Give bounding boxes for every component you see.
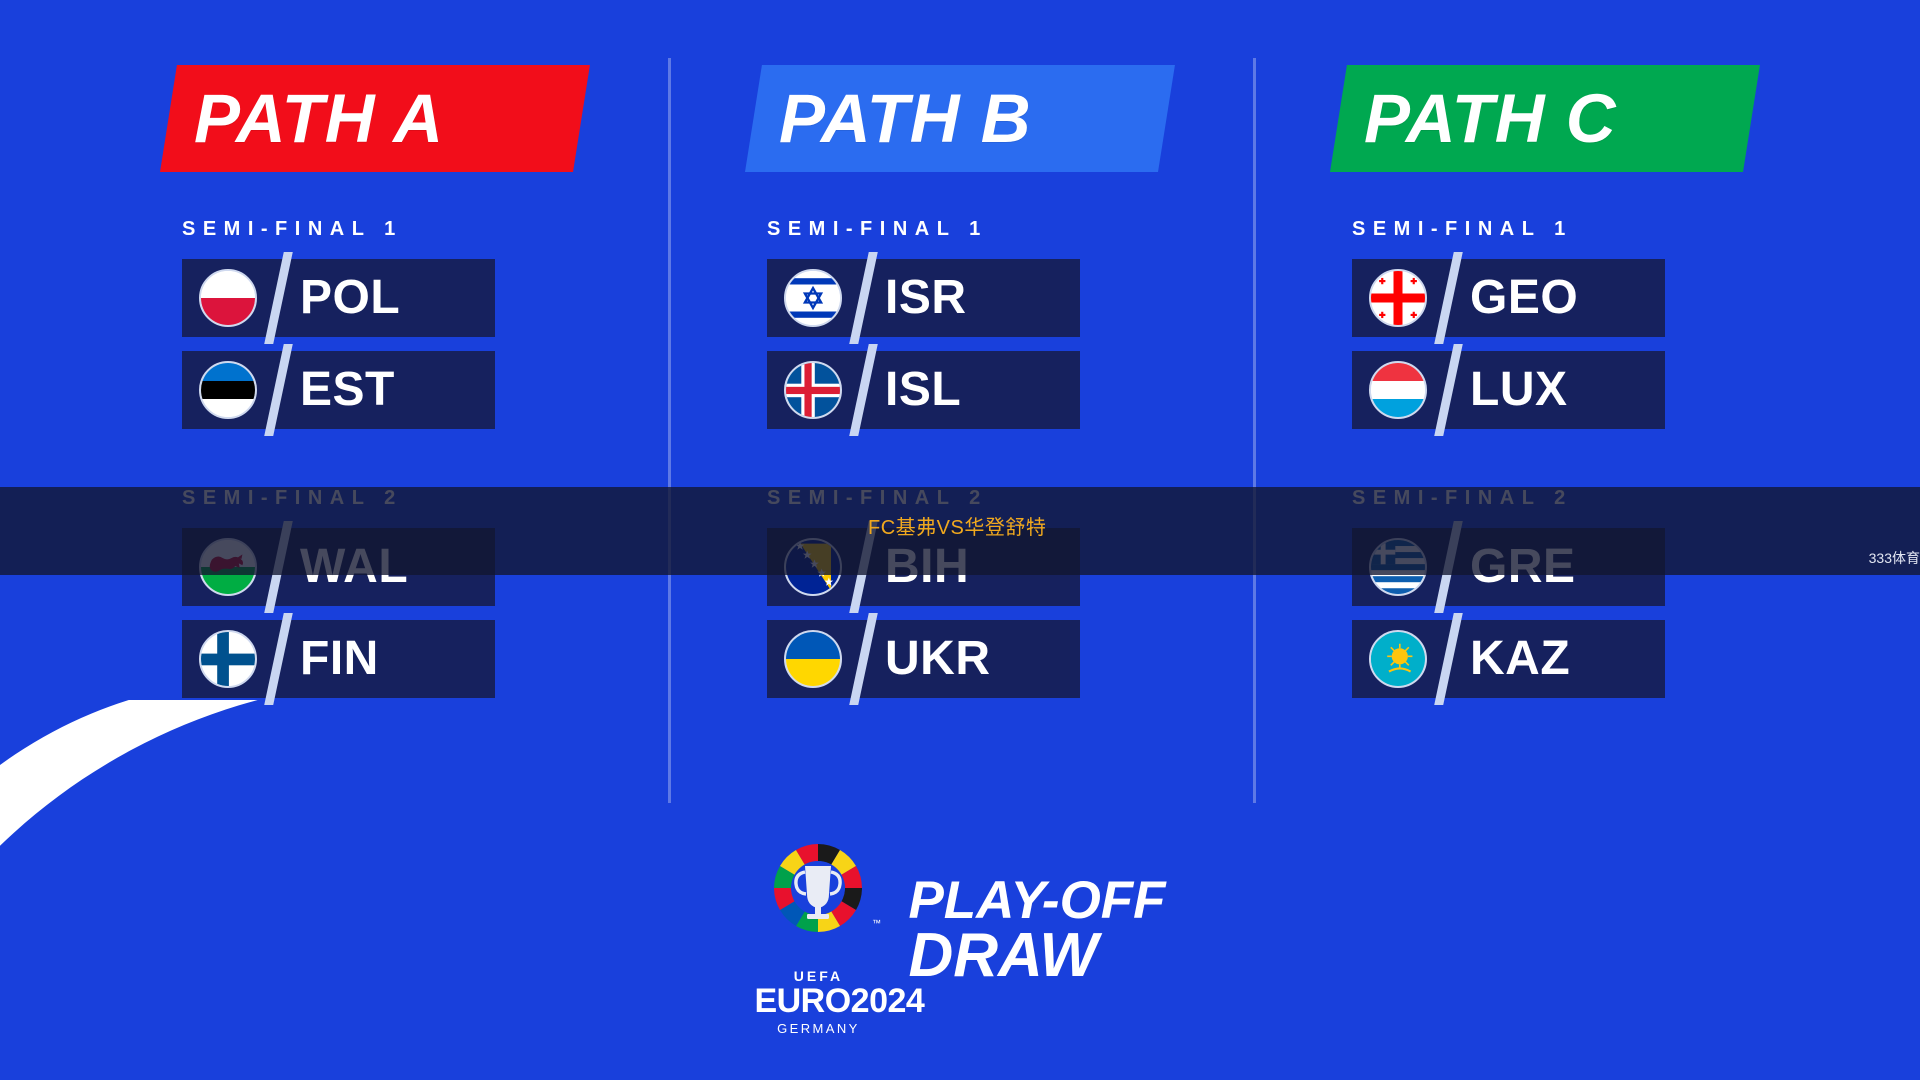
path-a-sf1-rows: POL EST	[182, 259, 680, 429]
luxembourg-flag-icon	[1369, 361, 1427, 419]
path-c-title: PATH C	[1364, 84, 1617, 153]
euro-2024-logo: ™ UEFA EURO2024 GERMANY	[754, 826, 882, 1036]
flag-container	[1352, 259, 1444, 337]
team-code: GEO	[1444, 274, 1665, 322]
flag-container	[1352, 351, 1444, 429]
team-code: ISR	[859, 274, 1080, 322]
table-row[interactable]: GEO	[1352, 259, 1665, 337]
flag-container	[767, 351, 859, 429]
euro-logo-wordmark: UEFA EURO2024 GERMANY	[754, 969, 882, 1036]
flag-container	[767, 620, 859, 698]
path-c-sf1-rows: GEO LUX	[1352, 259, 1850, 429]
table-row[interactable]: LUX	[1352, 351, 1665, 429]
flag-container	[182, 351, 274, 429]
path-b-banner: PATH B	[745, 65, 1158, 172]
table-row[interactable]: FIN	[182, 620, 495, 698]
path-b-sf1-rows: ISR ISL	[767, 259, 1265, 429]
table-row[interactable]: EST	[182, 351, 495, 429]
poland-flag-icon	[199, 269, 257, 327]
table-row[interactable]: POL	[182, 259, 495, 337]
path-column-a: PATH A SEMI-FINAL 1 POL	[160, 0, 680, 712]
team-code: EST	[274, 366, 495, 414]
overlay-brand-watermark: 333体育	[1869, 548, 1920, 568]
path-a-sf1-label: SEMI-FINAL 1	[182, 218, 680, 241]
team-code: POL	[274, 274, 495, 322]
path-column-c: PATH C SEMI-FINAL 1	[1330, 0, 1850, 712]
svg-text:™: ™	[872, 918, 881, 928]
team-code: KAZ	[1444, 635, 1665, 683]
table-row[interactable]: UKR	[767, 620, 1080, 698]
path-b-title: PATH B	[779, 84, 1032, 153]
table-row[interactable]: ISR	[767, 259, 1080, 337]
team-code: FIN	[274, 635, 495, 683]
team-code: UKR	[859, 635, 1080, 683]
kazakhstan-flag-icon	[1369, 630, 1427, 688]
path-c-banner: PATH C	[1330, 65, 1743, 172]
flag-container	[182, 620, 274, 698]
path-column-b: PATH B SEMI-FINAL 1 ISR	[745, 0, 1265, 712]
path-c-sf1-label: SEMI-FINAL 1	[1352, 218, 1850, 241]
euro-2024-trophy-icon: ™	[754, 826, 882, 966]
team-code: ISL	[859, 366, 1080, 414]
path-a-banner: PATH A	[160, 65, 573, 172]
overlay-promo-text[interactable]: FC基弗VS华登舒特	[868, 511, 1046, 540]
path-b-sf1-label: SEMI-FINAL 1	[767, 218, 1265, 241]
finland-flag-icon	[199, 630, 257, 688]
table-row[interactable]: ISL	[767, 351, 1080, 429]
logo-euro-word: EURO	[754, 982, 850, 1020]
team-code: LUX	[1444, 366, 1665, 414]
page-title: PLAY-OFF DRAW	[908, 876, 1165, 985]
estonia-flag-icon	[199, 361, 257, 419]
title-line-1: PLAY-OFF	[908, 876, 1165, 926]
title-line-2: DRAW	[908, 927, 1165, 986]
iceland-flag-icon	[784, 361, 842, 419]
path-a-title: PATH A	[194, 84, 444, 153]
flag-container	[1352, 620, 1444, 698]
table-row[interactable]: KAZ	[1352, 620, 1665, 698]
logo-euro-text: EURO2024	[754, 984, 882, 1018]
flag-container	[767, 259, 859, 337]
logo-host-country: GERMANY	[754, 1021, 882, 1036]
georgia-flag-icon	[1369, 269, 1427, 327]
ukraine-flag-icon	[784, 630, 842, 688]
israel-flag-icon	[784, 269, 842, 327]
flag-container	[182, 259, 274, 337]
footer: ™ UEFA EURO2024 GERMANY PLAY-OFF DRAW	[0, 826, 1920, 1036]
logo-year: 2024	[851, 982, 925, 1020]
